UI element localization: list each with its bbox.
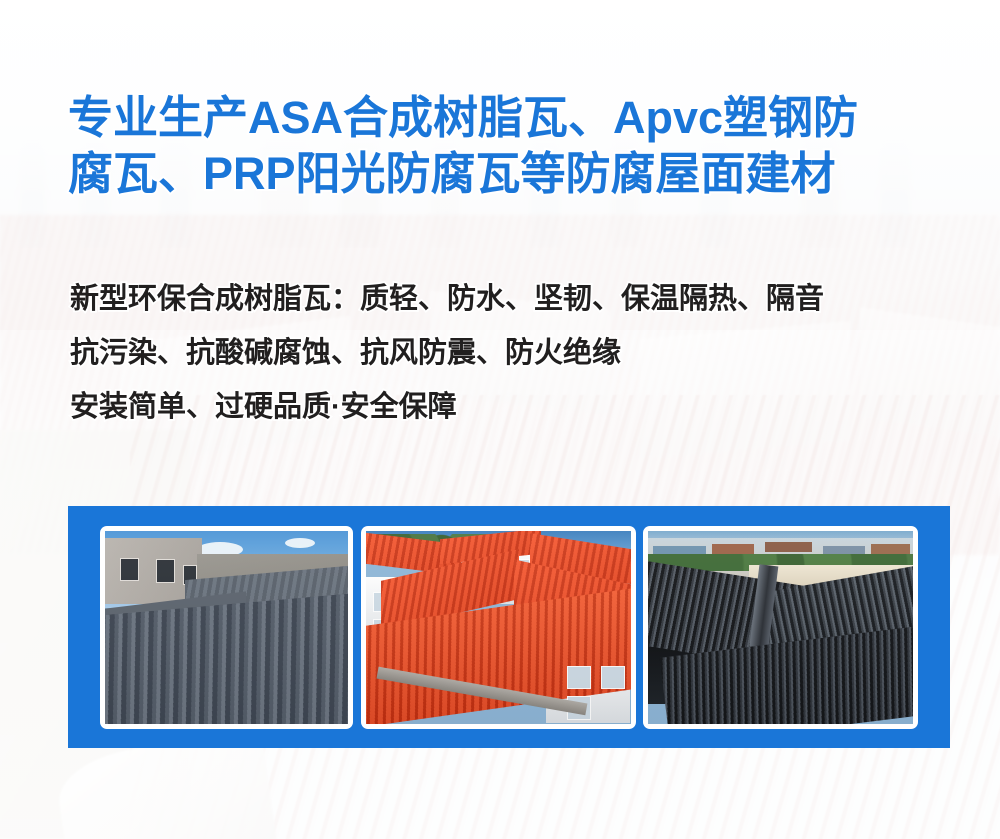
photo3-village-roof	[712, 544, 754, 554]
photo1-window	[120, 558, 139, 581]
headline-line-1: 专业生产ASA合成树脂瓦、Apvc塑钢防	[68, 90, 948, 146]
subtitle-line-3: 安装简单、过硬品质·安全保障	[70, 380, 970, 434]
photo-card-grey-resin-tile-roof[interactable]	[100, 526, 353, 729]
subtitle-line-1: 新型环保合成树脂瓦：质轻、防水、坚韧、保温隔热、隔音	[70, 272, 970, 326]
photo3-village-roof	[871, 544, 911, 554]
product-photo-panel	[68, 506, 950, 748]
photo-card-black-resin-tile-roof[interactable]	[643, 526, 918, 729]
headline-line-2: 腐瓦、PRP阳光防腐瓦等防腐屋面建材	[68, 146, 948, 202]
photo1-window	[156, 559, 175, 582]
photo3-village-roof	[765, 542, 813, 552]
photo-red-resin-tile-roof	[366, 531, 631, 724]
photo2-window	[601, 666, 625, 689]
photo-black-resin-tile-roof	[648, 531, 913, 724]
photo-grey-resin-tile-roof	[105, 531, 348, 724]
product-promo-banner: 专业生产ASA合成树脂瓦、Apvc塑钢防 腐瓦、PRP阳光防腐瓦等防腐屋面建材 …	[0, 0, 1000, 839]
photo-card-red-resin-tile-roof[interactable]	[361, 526, 636, 729]
banner-content: 专业生产ASA合成树脂瓦、Apvc塑钢防 腐瓦、PRP阳光防腐瓦等防腐屋面建材 …	[0, 0, 1000, 839]
banner-subtitle: 新型环保合成树脂瓦：质轻、防水、坚韧、保温隔热、隔音 抗污染、抗酸碱腐蚀、抗风防…	[70, 272, 970, 434]
subtitle-line-2: 抗污染、抗酸碱腐蚀、抗风防震、防火绝缘	[70, 326, 970, 380]
banner-headline: 专业生产ASA合成树脂瓦、Apvc塑钢防 腐瓦、PRP阳光防腐瓦等防腐屋面建材	[68, 90, 948, 202]
photo2-window	[567, 666, 591, 689]
